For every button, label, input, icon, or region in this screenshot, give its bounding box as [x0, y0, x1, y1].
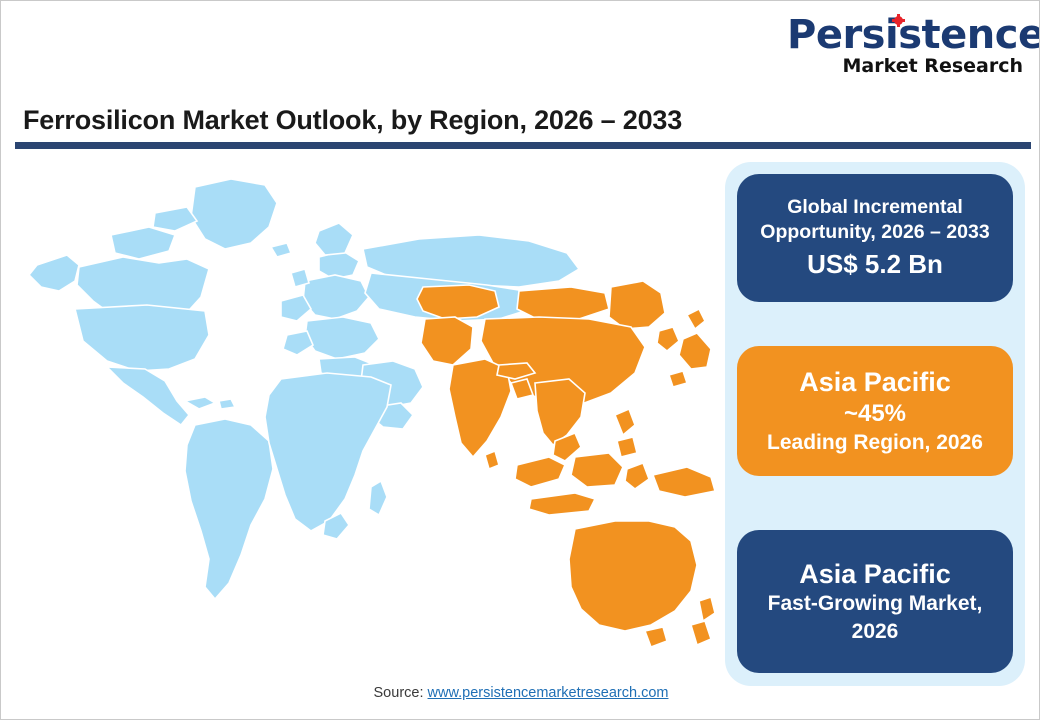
title-underline-rule — [15, 142, 1031, 149]
card-1-value: US$ 5.2 Bn — [807, 248, 943, 281]
card-1-line2: Opportunity, 2026 – 2033 — [760, 220, 989, 245]
card-2-caption: Leading Region, 2026 — [767, 429, 983, 456]
company-logo: Persistence Market Research — [787, 15, 1023, 81]
card-3-region: Asia Pacific — [799, 558, 951, 590]
card-fast-growing-market: Asia Pacific Fast-Growing Market, 2026 — [737, 530, 1013, 673]
card-1-line1: Global Incremental — [787, 195, 963, 220]
logo-wordmark: Persistence — [787, 15, 1040, 55]
world-map — [19, 169, 719, 669]
infographic-page: Persistence Market Research Ferrosilicon… — [0, 0, 1040, 720]
source-line: Source: www.persistencemarketresearch.co… — [1, 685, 1040, 701]
page-title: Ferrosilicon Market Outlook, by Region, … — [23, 105, 682, 136]
map-highlight-asia-pacific — [417, 281, 715, 647]
logo-name: Persistence — [787, 12, 1040, 58]
card-2-region: Asia Pacific — [799, 366, 951, 398]
card-3-caption-line1: Fast-Growing Market, — [768, 590, 983, 617]
source-link[interactable]: www.persistencemarketresearch.com — [428, 685, 669, 701]
card-global-incremental-opportunity: Global Incremental Opportunity, 2026 – 2… — [737, 174, 1013, 302]
card-2-share: ~45% — [844, 400, 906, 429]
card-leading-region: Asia Pacific ~45% Leading Region, 2026 — [737, 346, 1013, 476]
logo-asterisk-icon — [894, 16, 903, 25]
logo-tagline: Market Research — [787, 57, 1023, 76]
stats-panel: Global Incremental Opportunity, 2026 – 2… — [725, 162, 1025, 686]
source-label: Source: — [374, 685, 424, 701]
card-3-caption-line2: 2026 — [852, 618, 899, 645]
